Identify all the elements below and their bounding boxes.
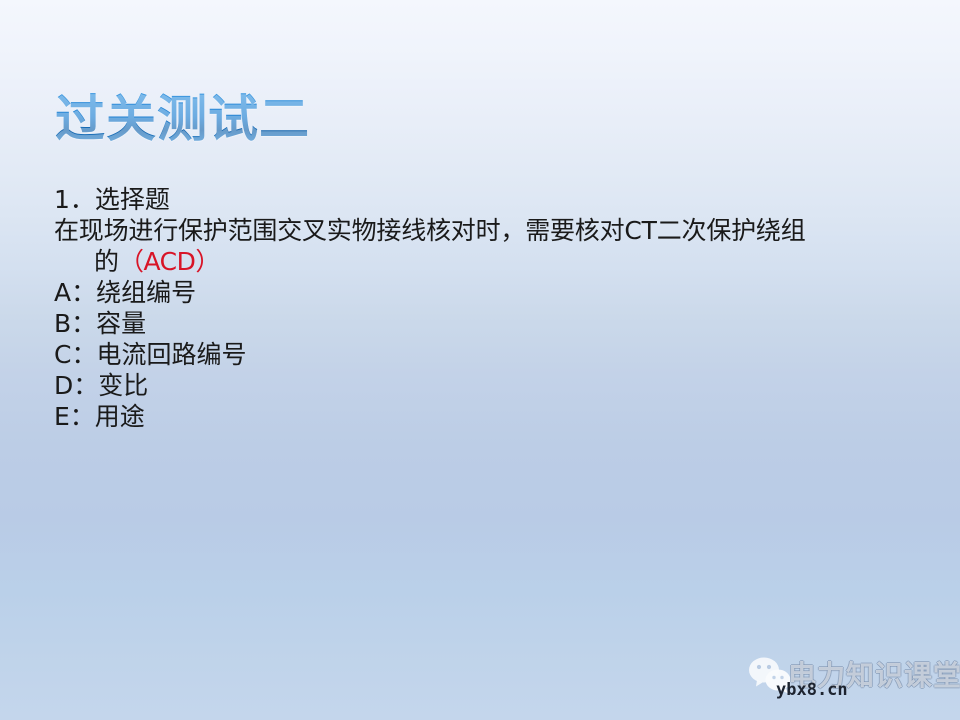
option-a-text: 绕组编号 [96, 278, 196, 307]
option-a-label: A： [54, 277, 96, 308]
option-d[interactable]: D：变比 [54, 370, 884, 401]
page-title: 过关测试二 [55, 92, 310, 147]
option-d-label: D： [54, 370, 98, 401]
option-e-text: 用途 [95, 402, 145, 431]
option-c-text: 电流回路编号 [96, 340, 246, 369]
question-section-label: 1．选择题 [54, 184, 884, 215]
option-d-text: 变比 [98, 371, 148, 400]
option-b[interactable]: B：容量 [54, 308, 884, 339]
watermark-url: ybx8.cn [776, 680, 848, 700]
option-c[interactable]: C：电流回路编号 [54, 339, 884, 370]
watermark: 电力知识课堂 ybx8.cn [748, 652, 953, 710]
option-b-text: 容量 [96, 309, 146, 338]
option-b-label: B： [54, 308, 96, 339]
question-answer-line: 的（ACD） [54, 246, 884, 277]
question-block: 1．选择题 在现场进行保护范围交叉实物接线核对时，需要核对CT二次保护绕组 的（… [54, 184, 884, 432]
question-stem-continuation: 的 [94, 247, 119, 276]
option-a[interactable]: A：绕组编号 [54, 277, 884, 308]
question-stem: 在现场进行保护范围交叉实物接线核对时，需要核对CT二次保护绕组 [54, 215, 884, 246]
slide-canvas: 过关测试二 1．选择题 在现场进行保护范围交叉实物接线核对时，需要核对CT二次保… [0, 0, 960, 720]
answer-key: （ACD） [119, 247, 220, 276]
option-e-label: E： [54, 401, 95, 432]
option-e[interactable]: E：用途 [54, 401, 884, 432]
option-c-label: C： [54, 339, 96, 370]
